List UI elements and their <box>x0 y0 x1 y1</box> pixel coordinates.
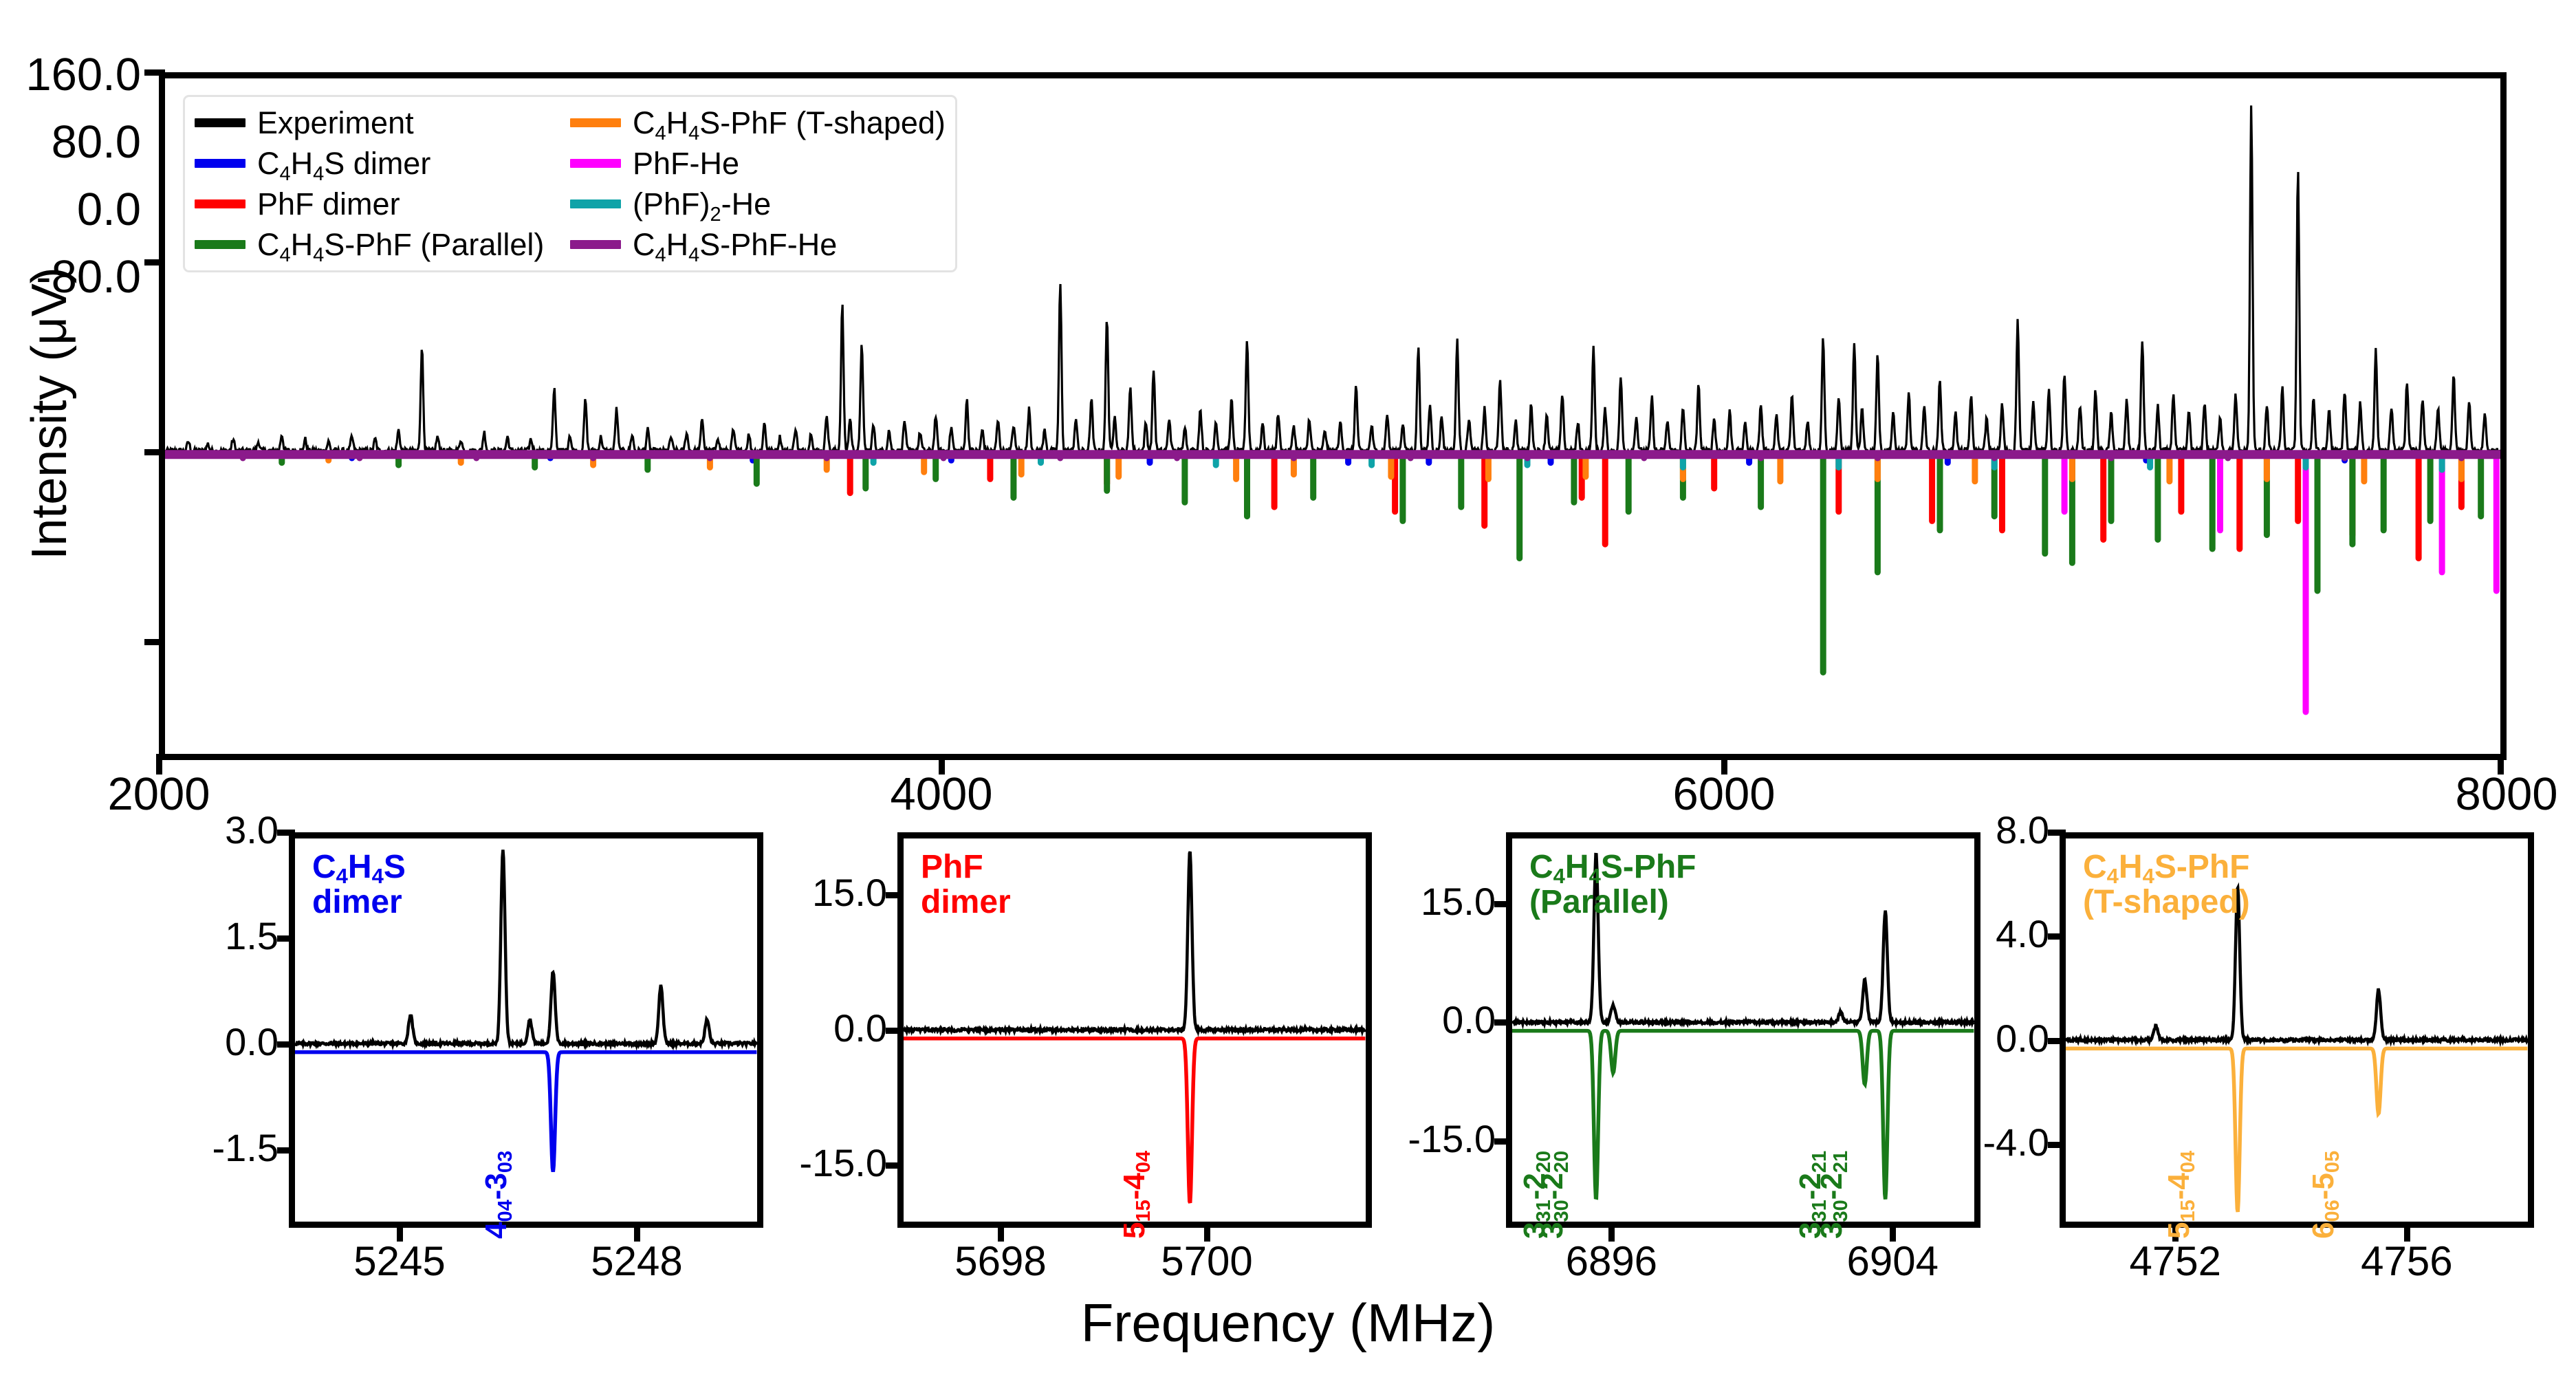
main-xtick-mark <box>1721 754 1727 775</box>
inset-xtick-mark <box>634 1225 640 1242</box>
legend-swatch-icon <box>195 118 245 127</box>
main-ytick-mark <box>144 259 165 266</box>
legend-item-experiment: Experiment <box>195 102 570 143</box>
legend-item-phf-2-he: (PhF)2-He <box>570 184 946 224</box>
series-phf-he <box>165 455 2500 712</box>
inset-ytick-mark <box>277 1147 295 1154</box>
inset-xtick-mark <box>1890 1225 1896 1242</box>
inset-ytick-mark <box>277 830 295 836</box>
inset-ytick: 8.0 <box>1853 808 2049 852</box>
inset-ytick-mark <box>1494 1019 1512 1026</box>
inset-ytick-mark <box>277 935 295 942</box>
inset-title-thiophene-dimer: C4H4Sdimer <box>312 850 406 920</box>
inset-xtick: 5700 <box>1111 1237 1303 1285</box>
legend-swatch-icon <box>195 159 245 168</box>
series-c4h4s-phf-parallel- <box>165 455 2500 673</box>
main-xtick-mark <box>156 754 162 775</box>
inset-ytick-mark <box>277 1041 295 1048</box>
inset-xtick: 6896 <box>1515 1237 1707 1285</box>
inset-ytick: 3.0 <box>83 808 279 852</box>
legend-label: (PhF)2-He <box>633 186 771 222</box>
legend-label: C4H4S dimer <box>257 146 430 182</box>
transition-label-3_30-2_21: 330-221 <box>1815 1151 1849 1239</box>
inset-ytick: -15.0 <box>1300 1116 1496 1161</box>
inset-ytick: -4.0 <box>1853 1120 2049 1165</box>
legend: ExperimentC4H4S-PhF (T-shaped)C4H4S dime… <box>183 95 957 272</box>
legend-swatch-icon <box>570 159 621 168</box>
inset-title-tshaped: C4H4S-PhF(T-shaped) <box>2083 850 2250 920</box>
inset-ytick: 15.0 <box>1300 879 1496 924</box>
main-xtick-mark <box>2498 754 2504 775</box>
legend-item-phf-he: PhF-He <box>570 143 946 184</box>
legend-label: PhF-He <box>633 146 739 182</box>
legend-swatch-icon <box>570 118 621 127</box>
legend-label: PhF dimer <box>257 186 400 222</box>
inset-title-parallel: C4H4S-PhF(Parallel) <box>1529 850 1696 920</box>
inset-xtick-mark <box>2404 1225 2410 1242</box>
main-ytick-mark <box>144 639 165 645</box>
transition-label-3_30-2_20: 330-220 <box>1536 1151 1570 1239</box>
transition-label-5_15-4_04: 515-404 <box>2162 1151 2196 1239</box>
inset-xtick: 5698 <box>904 1237 1097 1285</box>
inset-ytick-mark <box>2048 1142 2066 1148</box>
main-xtick-8000: 8000 <box>2403 768 2576 821</box>
main-xtick-mark <box>939 754 945 775</box>
inset-title-phf-dimer: PhFdimer <box>921 850 1011 920</box>
inset-xtick-mark <box>1204 1225 1210 1242</box>
main-xtick-4000: 4000 <box>838 768 1045 821</box>
legend-label: Experiment <box>257 105 414 141</box>
inset-xtick: 4756 <box>2311 1237 2503 1285</box>
inset-ytick: 0.0 <box>83 1019 279 1064</box>
legend-swatch-icon <box>570 240 621 249</box>
inset-xtick: 5248 <box>541 1237 733 1285</box>
legend-swatch-icon <box>195 240 245 249</box>
legend-swatch-icon <box>195 199 245 208</box>
inset-xtick-mark <box>397 1225 403 1242</box>
inset-xtick: 4752 <box>2079 1237 2271 1285</box>
inset-xtick: 6904 <box>1796 1237 1989 1285</box>
main-xtick-6000: 6000 <box>1621 768 1827 821</box>
transition-label-6_06-5_05: 606-505 <box>2306 1151 2341 1239</box>
legend-item-c4h4s-dimer: C4H4S dimer <box>195 143 570 184</box>
series-c4h4s-phf-he <box>165 455 2500 458</box>
legend-swatch-icon <box>570 199 621 208</box>
inset-ytick: -15.0 <box>691 1140 887 1185</box>
y-axis-title: Intensity (μV) <box>21 200 78 627</box>
main-ytick-mark <box>144 69 165 76</box>
x-axis-title: Frequency (MHz) <box>0 1292 2576 1354</box>
legend-item-phf-dimer: PhF dimer <box>195 184 570 224</box>
inset-xtick: 5245 <box>303 1237 496 1285</box>
inset-ytick: -1.5 <box>83 1125 279 1170</box>
inset-ytick: 0.0 <box>1853 1016 2049 1061</box>
inset-ytick-mark <box>2048 1038 2066 1044</box>
inset-ytick: 0.0 <box>691 1006 887 1050</box>
inset-ytick-mark <box>886 1162 904 1169</box>
main-ytick-160: 160.0 <box>0 48 141 101</box>
inset-ytick-mark <box>2048 933 2066 940</box>
inset-ytick-mark <box>886 892 904 898</box>
inset-ytick: 1.5 <box>83 913 279 958</box>
inset-ytick: 0.0 <box>1300 997 1496 1042</box>
legend-item-c4h4s-phf-parallel: C4H4S-PhF (Parallel) <box>195 224 570 265</box>
figure-root: 160.0 80.0 0.0 -80.0 2000 4000 6000 8000… <box>0 0 2576 1386</box>
inset-xtick-mark <box>998 1225 1004 1242</box>
inset-ytick-mark <box>2048 830 2066 836</box>
legend-label: C4H4S-PhF (Parallel) <box>257 227 544 263</box>
inset-ytick-mark <box>1494 901 1512 907</box>
legend-label: C4H4S-PhF (T-shaped) <box>633 105 946 141</box>
legend-label: C4H4S-PhF-He <box>633 227 837 263</box>
main-ytick-80: 80.0 <box>0 116 141 169</box>
legend-item-c4h4s-phf-he: C4H4S-PhF-He <box>570 224 946 265</box>
inset-ytick-mark <box>1494 1138 1512 1145</box>
main-ytick-mark <box>144 449 165 455</box>
transition-label-5_15-4_04: 515-404 <box>1117 1151 1152 1239</box>
legend-item-c4h4s-phf-t-shaped: C4H4S-PhF (T-shaped) <box>570 102 946 143</box>
inset-ytick: 15.0 <box>691 870 887 915</box>
inset-ytick-mark <box>886 1028 904 1034</box>
inset-xtick-mark <box>1608 1225 1615 1242</box>
transition-label-4_04-3_03: 404-303 <box>479 1151 514 1239</box>
inset-ytick: 4.0 <box>1853 911 2049 956</box>
